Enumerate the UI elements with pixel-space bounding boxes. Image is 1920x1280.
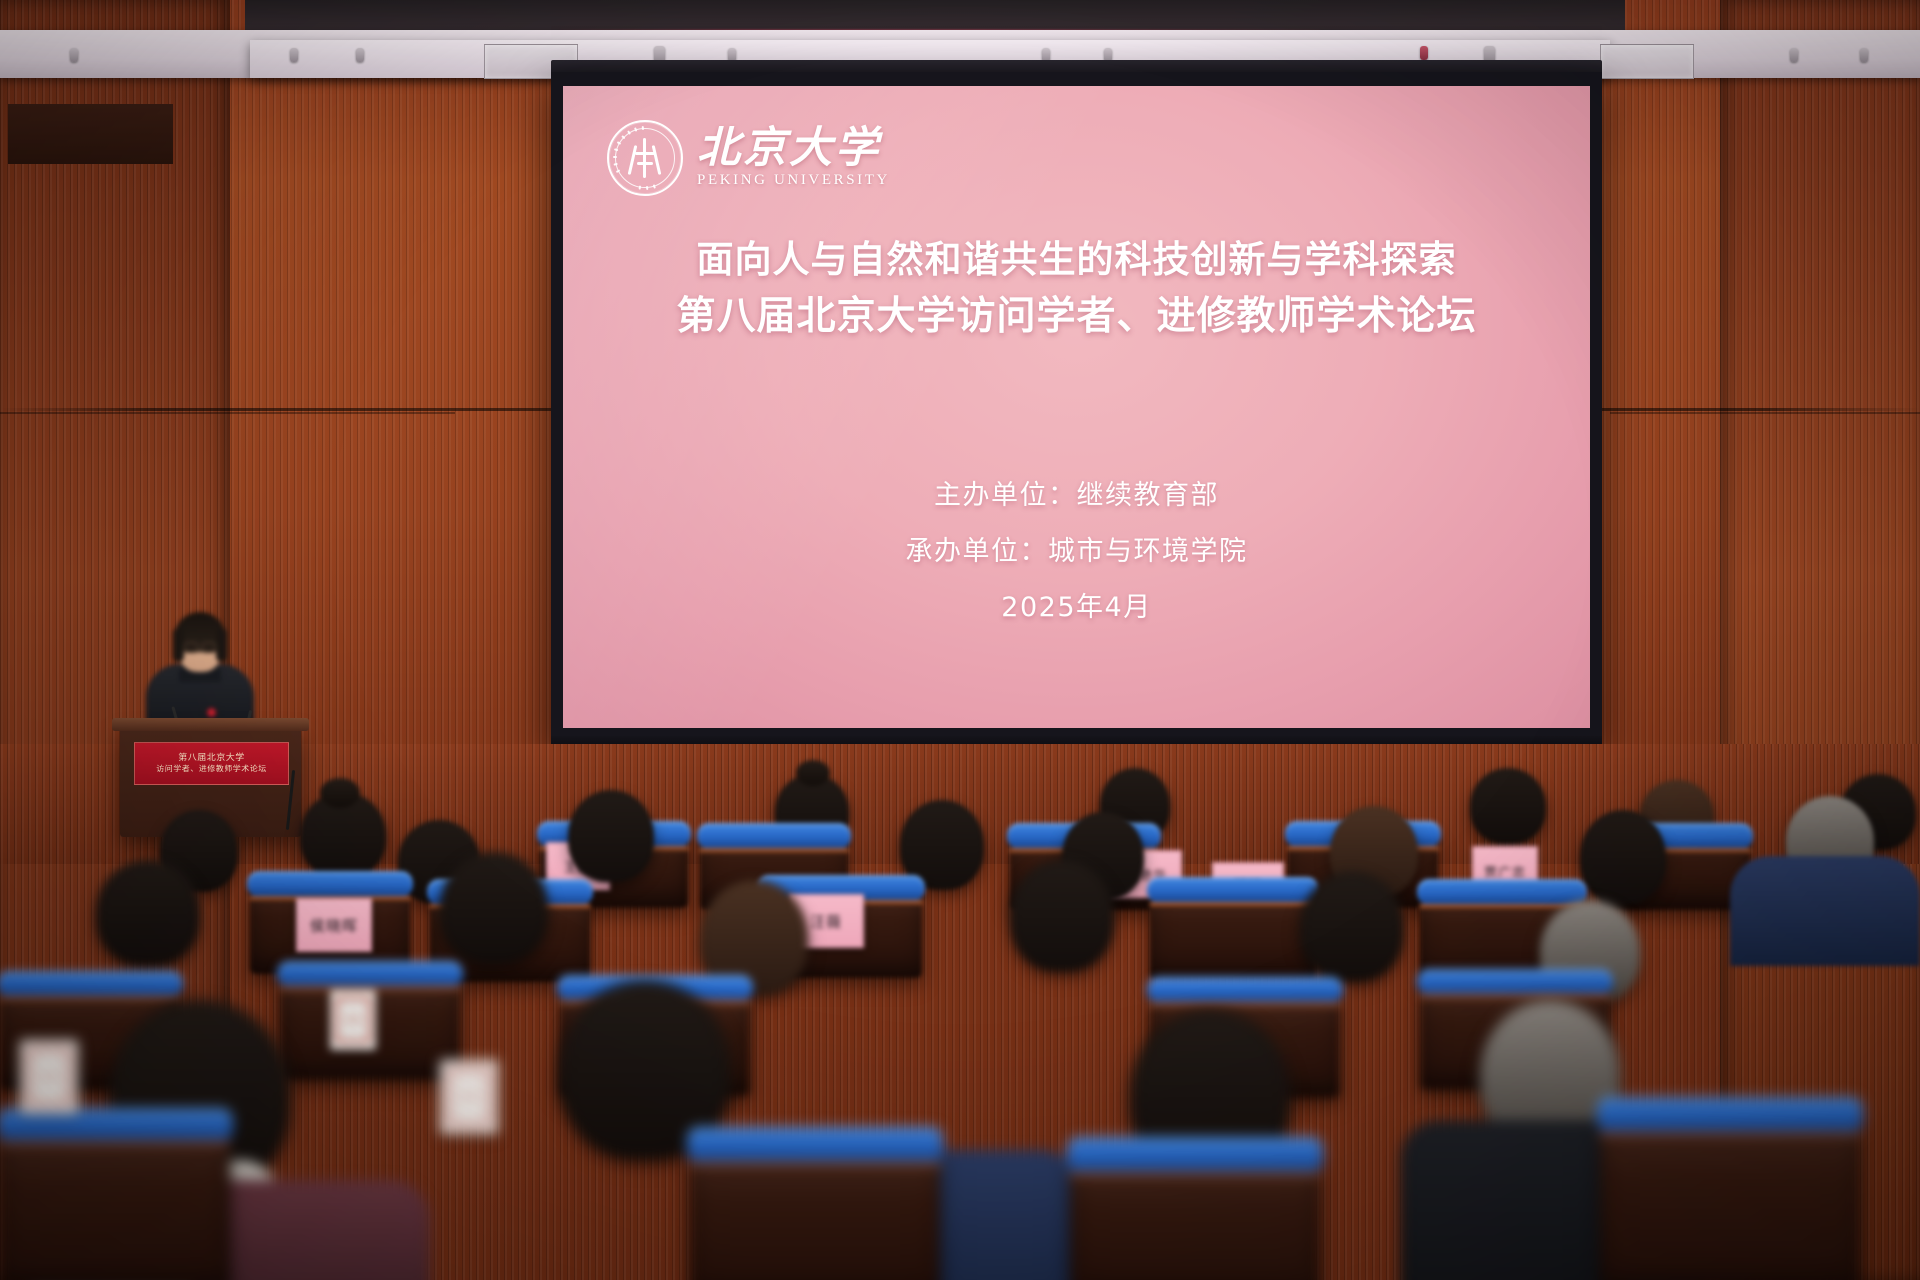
podium-banner: 第八届北京大学 访问学者、进修教师学术论坛 bbox=[134, 742, 289, 785]
wall-panel-right bbox=[1720, 0, 1920, 1280]
podium-banner-line-2: 访问学者、进修教师学术论坛 bbox=[156, 765, 267, 773]
slide-title-line-2: 第八届北京大学访问学者、进修教师学术论坛 bbox=[563, 288, 1590, 347]
ceiling-downlight bbox=[1860, 48, 1868, 62]
seat-cushion bbox=[277, 961, 463, 987]
seat[interactable] bbox=[1070, 1150, 1320, 1280]
wall-groove-right bbox=[1610, 412, 1920, 414]
audience-shoulders bbox=[1730, 856, 1920, 966]
seat-cushion bbox=[1417, 879, 1587, 905]
audience-hair-bun bbox=[796, 760, 830, 786]
speaker-hair-side-left bbox=[173, 628, 184, 662]
podium-banner-line-1: 第八届北京大学 bbox=[178, 754, 245, 763]
audience-head bbox=[1580, 810, 1666, 904]
seat-cushion bbox=[1417, 969, 1613, 995]
seat-seal-mark: ▢▢ bbox=[448, 1069, 490, 1125]
wordmark-chinese: 北京大学 bbox=[697, 127, 890, 170]
speaker-hair-side-right bbox=[216, 628, 227, 662]
name-placard: 侯晓晖 bbox=[296, 898, 372, 952]
ceiling-downlight bbox=[70, 48, 78, 62]
seat-seal-mark: ▢▢ bbox=[336, 998, 370, 1042]
seat-cushion bbox=[1147, 877, 1319, 903]
wall-groove-left bbox=[0, 412, 455, 414]
peking-university-seal-icon bbox=[607, 120, 683, 196]
ceiling-downlight bbox=[356, 48, 364, 62]
seat-cushion bbox=[0, 971, 183, 997]
slide-date: 2025年4月 bbox=[563, 580, 1590, 636]
pku-logo-lockup: 北京大学 PEKING UNIVERSITY bbox=[607, 120, 890, 196]
seat-cushion bbox=[1597, 1097, 1863, 1133]
seal-pei-glyph bbox=[628, 138, 662, 178]
podium-top-surface bbox=[112, 718, 309, 731]
slide-title-line-1: 面向人与自然和谐共生的科技创新与学科探索 bbox=[563, 232, 1590, 288]
slide-organizer-host: 主办单位：继续教育部 bbox=[563, 468, 1590, 524]
seat-number-tag: ▢▢ bbox=[330, 990, 376, 1050]
projection-screen: 北京大学 PEKING UNIVERSITY 面向人与自然和谐共生的科技创新与学… bbox=[563, 86, 1590, 728]
ceiling-downlight bbox=[290, 48, 298, 62]
audience-head bbox=[1300, 872, 1404, 982]
ceiling-spotlight-red bbox=[1420, 46, 1428, 60]
seat-seal-mark: ▢▢ bbox=[28, 1049, 70, 1105]
seat-cushion bbox=[697, 823, 851, 849]
slide-title: 面向人与自然和谐共生的科技创新与学科探索 第八届北京大学访问学者、进修教师学术论… bbox=[563, 232, 1590, 346]
ceiling-downlight bbox=[1790, 48, 1798, 62]
slide-organizer-coordinator: 承办单位：城市与环境学院 bbox=[563, 524, 1590, 580]
audience-head bbox=[1010, 860, 1114, 972]
speaker-glasses-icon bbox=[184, 642, 216, 651]
seat[interactable] bbox=[690, 1140, 940, 1280]
slide-subtitle-block: 主办单位：继续教育部 承办单位：城市与环境学院 2025年4月 bbox=[563, 468, 1590, 636]
projection-screen-frame: 北京大学 PEKING UNIVERSITY 面向人与自然和谐共生的科技创新与学… bbox=[551, 72, 1602, 744]
pku-wordmark: 北京大学 PEKING UNIVERSITY bbox=[697, 127, 890, 189]
seat-cushion bbox=[1067, 1137, 1323, 1173]
podium-base bbox=[8, 104, 173, 164]
speaker-lapel-pin bbox=[207, 708, 216, 717]
ceiling-vent-panel bbox=[1600, 44, 1694, 79]
seat-number-tag: ▢▢ bbox=[20, 1040, 78, 1114]
seat[interactable] bbox=[0, 1120, 230, 1280]
audience-head bbox=[1470, 768, 1546, 844]
seat[interactable] bbox=[1150, 886, 1316, 980]
seat-cushion bbox=[687, 1127, 943, 1163]
audience-hair-bun bbox=[320, 778, 360, 808]
audience-head bbox=[440, 852, 548, 964]
conference-photo-scene: 北京大学 PEKING UNIVERSITY 面向人与自然和谐共生的科技创新与学… bbox=[0, 0, 1920, 1280]
audience-head bbox=[568, 790, 654, 882]
seat-cushion bbox=[1147, 977, 1343, 1003]
wordmark-english: PEKING UNIVERSITY bbox=[697, 172, 890, 189]
seat-cushion bbox=[247, 871, 413, 897]
seat[interactable] bbox=[1600, 1110, 1860, 1280]
seat-number-tag: ▢▢ bbox=[440, 1060, 498, 1134]
audience-head bbox=[96, 860, 200, 966]
